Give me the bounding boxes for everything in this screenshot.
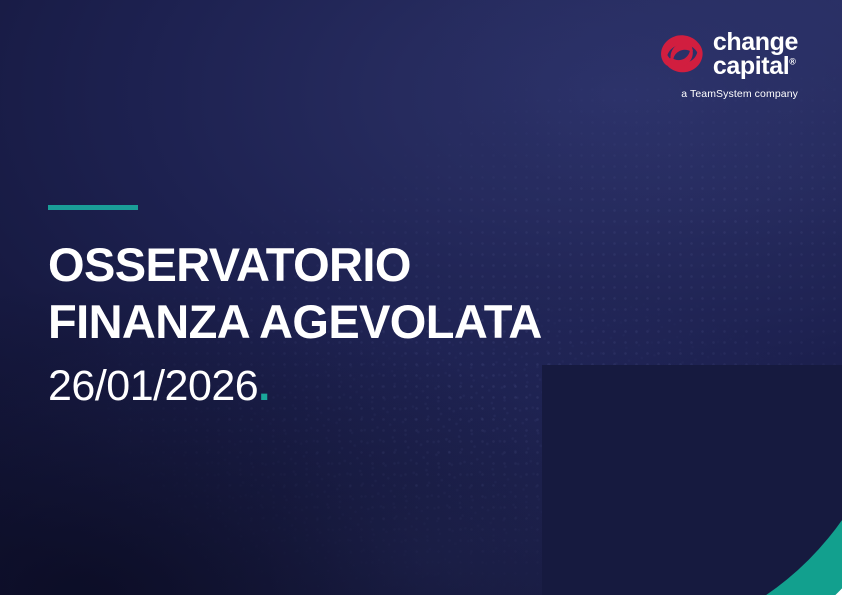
- presentation-date: 26/01/2026.: [48, 363, 542, 410]
- logo-word-capital: capital®: [713, 54, 798, 78]
- page-title-line-1: OSSERVATORIO: [48, 236, 542, 293]
- title-slide: change capital® a TeamSystem company OSS…: [0, 0, 842, 595]
- logo-word-capital-text: capital: [713, 52, 789, 80]
- presentation-date-text: 26/01/2026: [48, 362, 258, 410]
- brand-logo: change capital® a TeamSystem company: [656, 30, 798, 100]
- logo-lockup-row: change capital®: [656, 30, 798, 79]
- teal-arc-corner: [542, 365, 842, 595]
- logo-tagline: a TeamSystem company: [681, 88, 798, 100]
- title-block: OSSERVATORIO FINANZA AGEVOLATA 26/01/202…: [48, 205, 542, 410]
- accent-rule: [48, 205, 138, 210]
- page-title: OSSERVATORIO FINANZA AGEVOLATA: [48, 236, 542, 351]
- page-title-line-2: FINANZA AGEVOLATA: [48, 293, 542, 350]
- navy-arc-inner: [542, 365, 842, 595]
- registered-trademark-icon: ®: [789, 57, 795, 67]
- date-accent-dot: .: [258, 362, 269, 410]
- change-capital-swirl-logo-icon: [656, 30, 704, 78]
- logo-word-change: change: [713, 30, 798, 54]
- logo-wordmark: change capital®: [713, 30, 798, 79]
